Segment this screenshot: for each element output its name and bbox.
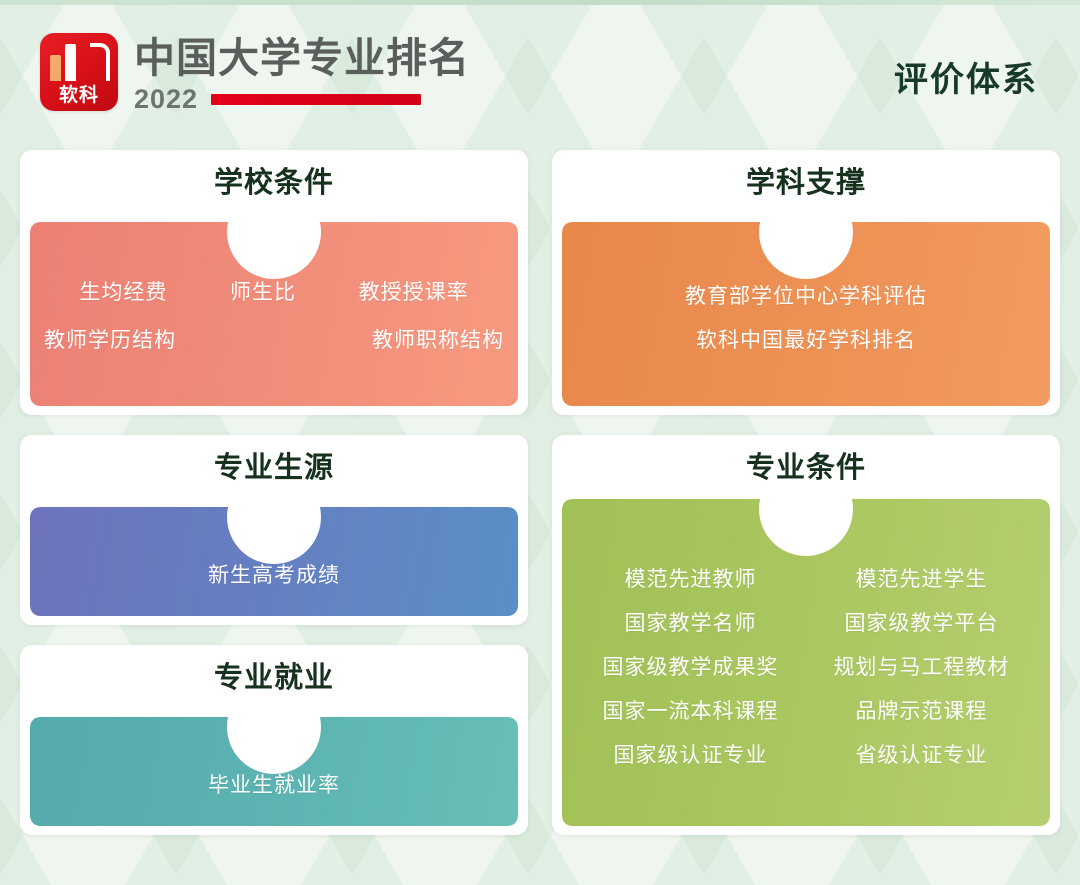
list-item: 毕业生就业率 [208, 773, 340, 799]
subtitle-row: 2022 [134, 84, 470, 115]
card-title: 学科支撑 [552, 150, 1060, 200]
card-items: 教育部学位中心学科评估 软科中国最好学科排名 [562, 222, 1050, 354]
list-item: 规划与马工程教材 [815, 655, 1028, 681]
item-row: 国家级教学成果奖 规划与马工程教材 [584, 655, 1028, 681]
section-title: 评价体系 [894, 52, 1038, 101]
item-row: 生均经费 师生比 教授授课率 [30, 280, 518, 306]
logo-brand-text: 软科 [40, 85, 118, 107]
list-item: 国家一流本科课程 [584, 699, 797, 725]
title-block: 中国大学专业排名 2022 [134, 33, 470, 115]
logo-r-icon [90, 43, 110, 81]
card-panel: 20 教育部学位中心学科评估 软科中国最好学科排名 [562, 222, 1050, 406]
card-panel: 10 生均经费 师生比 教授授课率 教师学历结构 教师职称结构 [30, 222, 518, 406]
card-items: 新生高考成绩 [30, 507, 518, 589]
card-title: 专业条件 [552, 435, 1060, 485]
red-rule [211, 94, 421, 105]
list-item: 师生比 [230, 280, 296, 306]
list-item: 生均经费 [79, 280, 167, 306]
evaluation-cards-board: 学校条件 10 生均经费 师生比 教授授课率 教师学历结构 教师职称结构 学科支… [20, 150, 1060, 870]
item-row: 国家级认证专业 省级认证专业 [584, 743, 1028, 769]
list-item: 软科中国最好学科排名 [696, 328, 916, 354]
card-major-conditions[interactable]: 专业条件 30 模范先进教师 模范先进学生 国家教学名师 国家级教学平台 国家级… [552, 435, 1060, 835]
list-item: 模范先进学生 [815, 567, 1028, 593]
card-items: 毕业生就业率 [30, 717, 518, 799]
logo-bar-2 [65, 44, 76, 81]
item-row: 新生高考成绩 [30, 563, 518, 589]
list-item: 国家教学名师 [584, 611, 797, 637]
list-item: 教授授课率 [359, 280, 469, 306]
card-title: 学校条件 [20, 150, 528, 200]
card-title: 专业生源 [20, 435, 528, 485]
item-row: 国家一流本科课程 品牌示范课程 [584, 699, 1028, 725]
list-item: 国家级教学成果奖 [584, 655, 797, 681]
item-row: 国家教学名师 国家级教学平台 [584, 611, 1028, 637]
card-panel: 20 新生高考成绩 [30, 507, 518, 616]
list-item: 省级认证专业 [815, 743, 1028, 769]
logo-bar-1 [50, 55, 61, 81]
card-items: 模范先进教师 模范先进学生 国家教学名师 国家级教学平台 国家级教学成果奖 规划… [562, 499, 1050, 769]
brand-block: 软科 中国大学专业排名 2022 [40, 33, 470, 115]
page-title: 中国大学专业排名 [134, 35, 470, 81]
list-item: 国家级认证专业 [584, 743, 797, 769]
card-panel: 5 毕业生就业率 [30, 717, 518, 826]
list-item: 模范先进教师 [584, 567, 797, 593]
card-items: 生均经费 师生比 教授授课率 教师学历结构 教师职称结构 [30, 222, 518, 354]
item-row: 软科中国最好学科排名 [562, 328, 1050, 354]
card-major-student-source[interactable]: 专业生源 20 新生高考成绩 [20, 435, 528, 625]
list-item: 品牌示范课程 [815, 699, 1028, 725]
page-header: 软科 中国大学专业排名 2022 评价体系 [0, 0, 1080, 146]
card-panel: 30 模范先进教师 模范先进学生 国家教学名师 国家级教学平台 国家级教学成果奖… [562, 499, 1050, 826]
card-school-conditions[interactable]: 学校条件 10 生均经费 师生比 教授授课率 教师学历结构 教师职称结构 [20, 150, 528, 415]
item-row: 模范先进教师 模范先进学生 [584, 567, 1028, 593]
list-item: 教师职称结构 [372, 328, 504, 354]
list-item: 教师学历结构 [44, 328, 176, 354]
list-item: 教育部学位中心学科评估 [685, 284, 927, 310]
softscience-logo-icon: 软科 [40, 33, 118, 111]
item-row: 毕业生就业率 [30, 773, 518, 799]
year-label: 2022 [134, 84, 198, 115]
card-major-employment[interactable]: 专业就业 5 毕业生就业率 [20, 645, 528, 835]
item-row: 教育部学位中心学科评估 [562, 284, 1050, 310]
list-item: 国家级教学平台 [815, 611, 1028, 637]
card-discipline-support[interactable]: 学科支撑 20 教育部学位中心学科评估 软科中国最好学科排名 [552, 150, 1060, 415]
item-row: 教师学历结构 教师职称结构 [30, 328, 518, 354]
card-title: 专业就业 [20, 645, 528, 695]
list-item: 新生高考成绩 [208, 563, 340, 589]
